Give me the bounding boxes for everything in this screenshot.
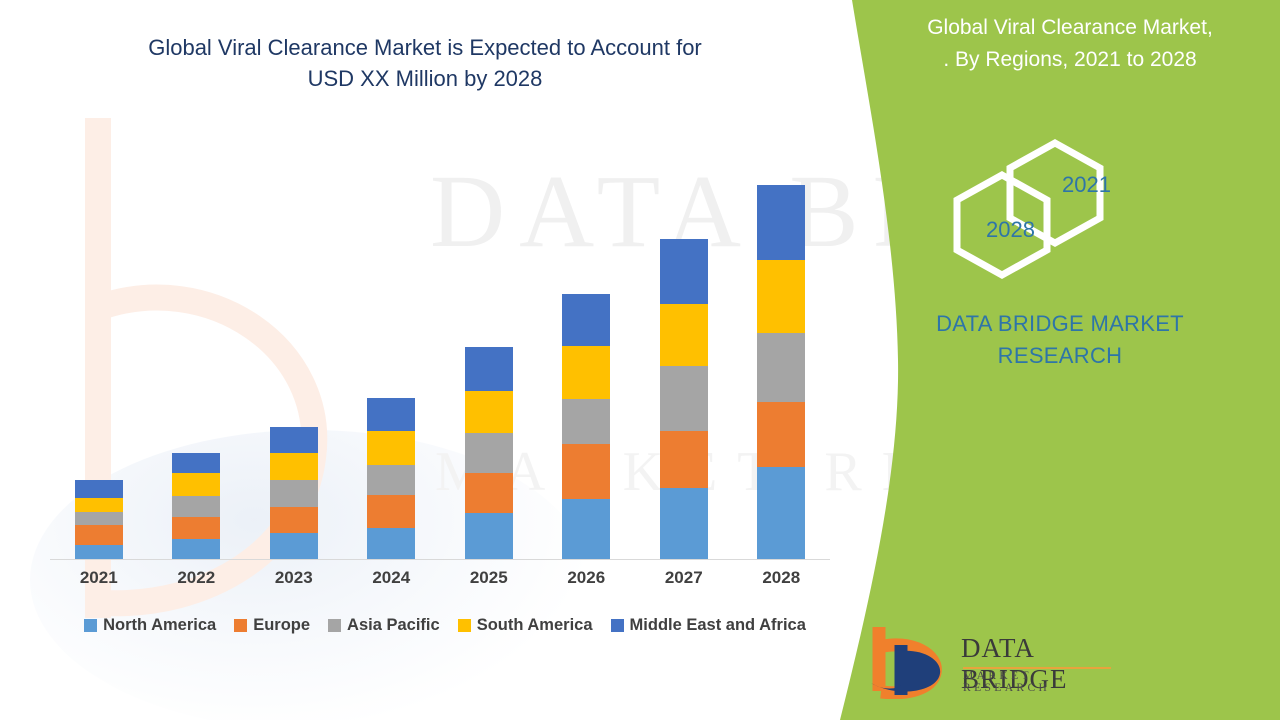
x-axis-tick-label: 2024 bbox=[367, 568, 415, 588]
bar-segment bbox=[75, 545, 123, 559]
bar-segment bbox=[660, 366, 708, 431]
bar-segment bbox=[270, 427, 318, 453]
bar-group bbox=[50, 110, 830, 559]
bar-segment bbox=[172, 539, 220, 559]
bar-segment bbox=[660, 304, 708, 366]
legend-swatch-icon bbox=[611, 619, 624, 632]
legend-swatch-icon bbox=[84, 619, 97, 632]
bar-segment bbox=[562, 444, 610, 499]
bar-column bbox=[562, 294, 610, 559]
x-axis-tick-label: 2021 bbox=[75, 568, 123, 588]
bar-segment bbox=[367, 528, 415, 559]
bar-segment bbox=[562, 294, 610, 346]
bar-segment bbox=[367, 398, 415, 431]
panel-brand-line-1: DATA BRIDGE MARKET bbox=[860, 308, 1260, 340]
panel-title: Global Viral Clearance Market, . By Regi… bbox=[880, 12, 1260, 76]
bar-segment bbox=[757, 333, 805, 402]
legend-label: Asia Pacific bbox=[347, 616, 440, 635]
bar-segment bbox=[465, 473, 513, 513]
bar-segment bbox=[75, 512, 123, 525]
bar-segment bbox=[465, 433, 513, 473]
chart-title-line-1: Global Viral Clearance Market is Expecte… bbox=[60, 32, 790, 63]
legend-label: Europe bbox=[253, 616, 310, 635]
bar-segment bbox=[270, 480, 318, 507]
bar-segment bbox=[757, 467, 805, 559]
panel-title-line-2: . By Regions, 2021 to 2028 bbox=[880, 44, 1260, 76]
hexagon-shapes-icon bbox=[940, 135, 1170, 285]
panel-title-line-1: Global Viral Clearance Market, bbox=[880, 12, 1260, 44]
legend-item[interactable]: Europe bbox=[234, 616, 310, 635]
chart-title: Global Viral Clearance Market is Expecte… bbox=[60, 32, 790, 94]
bar-segment bbox=[367, 431, 415, 465]
panel-brand-line-2: RESEARCH bbox=[860, 340, 1260, 372]
x-axis-tick-label: 2027 bbox=[660, 568, 708, 588]
legend-swatch-icon bbox=[458, 619, 471, 632]
bar-segment bbox=[367, 465, 415, 495]
legend-label: South America bbox=[477, 616, 593, 635]
legend-swatch-icon bbox=[328, 619, 341, 632]
chart-title-line-2: USD XX Million by 2028 bbox=[60, 63, 790, 94]
bar-segment bbox=[270, 507, 318, 533]
legend-item[interactable]: South America bbox=[458, 616, 593, 635]
legend-label: Middle East and Africa bbox=[630, 616, 806, 635]
chart-legend: North AmericaEuropeAsia PacificSouth Ame… bbox=[50, 616, 840, 635]
logo-divider bbox=[963, 667, 1111, 669]
panel-brand-name: DATA BRIDGE MARKET RESEARCH bbox=[860, 308, 1260, 372]
bar-segment bbox=[75, 498, 123, 512]
legend-swatch-icon bbox=[234, 619, 247, 632]
data-bridge-logo: DATA BRIDGE MARKET RESEARCH bbox=[865, 625, 1115, 705]
bar-column bbox=[465, 347, 513, 559]
bar-segment bbox=[75, 480, 123, 498]
bar-column bbox=[75, 480, 123, 559]
chart-plot-area bbox=[50, 110, 830, 560]
bar-segment bbox=[465, 513, 513, 559]
bar-segment bbox=[757, 402, 805, 467]
bar-segment bbox=[757, 260, 805, 333]
bar-segment bbox=[562, 399, 610, 444]
hexagon-label-end: 2028 bbox=[986, 217, 1035, 243]
x-axis-tick-label: 2023 bbox=[270, 568, 318, 588]
x-axis-tick-label: 2026 bbox=[562, 568, 610, 588]
right-green-panel: Global Viral Clearance Market, . By Regi… bbox=[840, 0, 1280, 720]
bar-segment bbox=[465, 347, 513, 391]
logo-subtitle: MARKET RESEARCH bbox=[963, 670, 1115, 694]
slide-canvas: DATA BRIDGE MARKET RESEARCH Global Viral… bbox=[0, 0, 1280, 720]
legend-label: North America bbox=[103, 616, 216, 635]
bar-column bbox=[172, 453, 220, 559]
bar-segment bbox=[660, 488, 708, 559]
x-axis-labels: 20212022202320242025202620272028 bbox=[50, 568, 830, 588]
bar-segment bbox=[270, 533, 318, 559]
x-axis-tick-label: 2025 bbox=[465, 568, 513, 588]
bar-segment bbox=[660, 239, 708, 304]
x-axis-tick-label: 2028 bbox=[757, 568, 805, 588]
bar-segment bbox=[172, 453, 220, 473]
bar-column bbox=[660, 239, 708, 559]
bar-segment bbox=[757, 185, 805, 260]
x-axis-tick-label: 2022 bbox=[172, 568, 220, 588]
hexagon-group: 2021 2028 bbox=[940, 135, 1170, 285]
bar-column bbox=[270, 427, 318, 559]
bar-segment bbox=[270, 453, 318, 480]
bar-segment bbox=[465, 391, 513, 433]
legend-item[interactable]: Middle East and Africa bbox=[611, 616, 806, 635]
legend-item[interactable]: North America bbox=[84, 616, 216, 635]
bar-segment bbox=[75, 525, 123, 545]
bar-column bbox=[367, 398, 415, 559]
data-bridge-mark-icon bbox=[865, 625, 957, 699]
bar-column bbox=[757, 185, 805, 559]
hexagon-label-start: 2021 bbox=[1062, 172, 1111, 198]
bar-segment bbox=[367, 495, 415, 528]
bar-segment bbox=[172, 496, 220, 517]
bar-segment bbox=[562, 499, 610, 559]
bar-segment bbox=[660, 431, 708, 488]
legend-item[interactable]: Asia Pacific bbox=[328, 616, 440, 635]
bar-segment bbox=[172, 517, 220, 539]
bar-segment bbox=[562, 346, 610, 399]
x-axis-line bbox=[50, 559, 830, 560]
bar-segment bbox=[172, 473, 220, 496]
